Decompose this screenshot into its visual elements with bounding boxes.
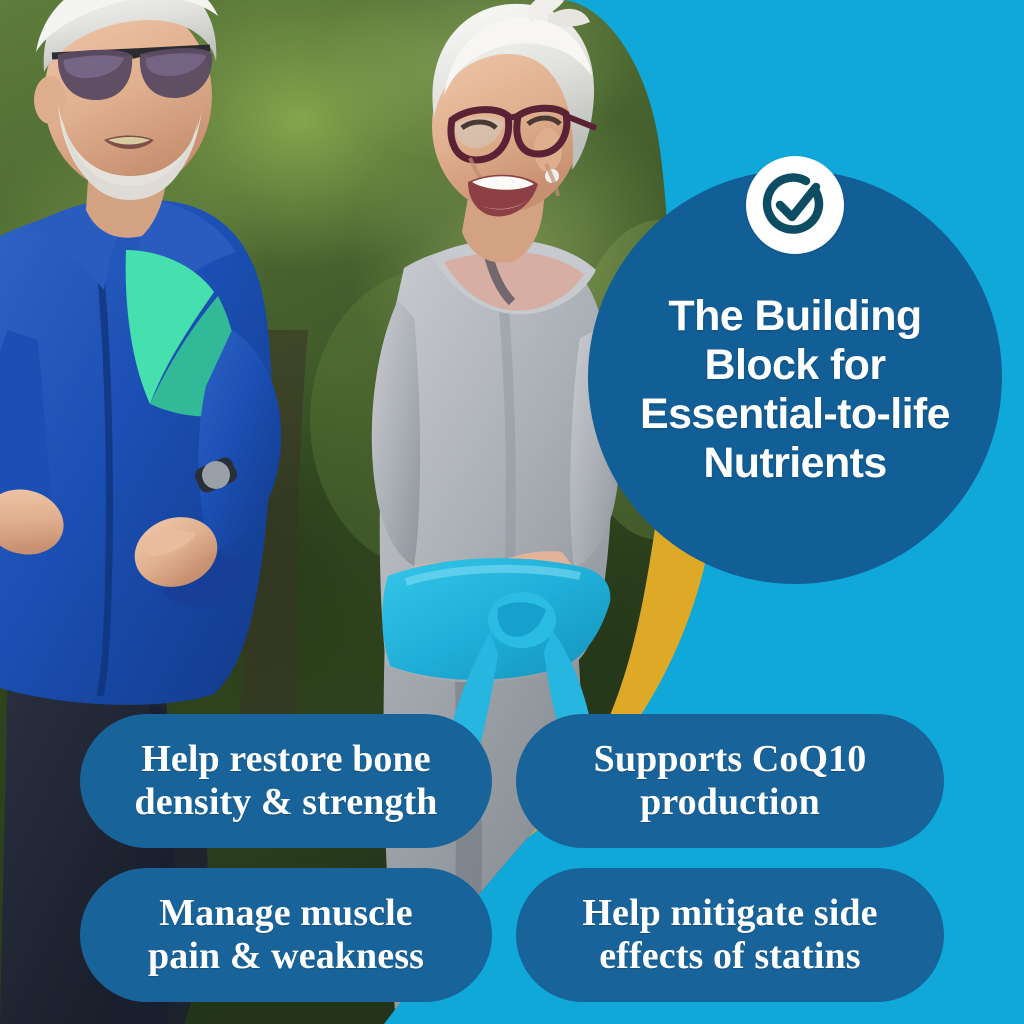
- benefits-grid: Help restore bone density & strength Sup…: [0, 704, 1024, 1024]
- benefit-pill-muscle-pain[interactable]: Manage muscle pain & weakness: [80, 868, 492, 1002]
- page-title: The BuildingBlock forEssential-to-lifeNu…: [595, 292, 995, 488]
- benefit-pill-label: Help restore bone density & strength: [135, 738, 438, 825]
- benefit-pill-statin-side-effects[interactable]: Help mitigate side effects of statins: [516, 868, 944, 1002]
- benefit-pill-bone-density[interactable]: Help restore bone density & strength: [80, 714, 492, 848]
- benefit-pill-label: Supports CoQ10 production: [594, 738, 867, 825]
- infographic-canvas: The BuildingBlock forEssential-to-lifeNu…: [0, 0, 1024, 1024]
- benefit-pill-label: Manage muscle pain & weakness: [148, 892, 424, 979]
- check-circle-icon: [758, 168, 832, 242]
- check-badge: [746, 156, 844, 254]
- benefit-pill-coq10[interactable]: Supports CoQ10 production: [516, 714, 944, 848]
- benefit-pill-label: Help mitigate side effects of statins: [582, 892, 877, 979]
